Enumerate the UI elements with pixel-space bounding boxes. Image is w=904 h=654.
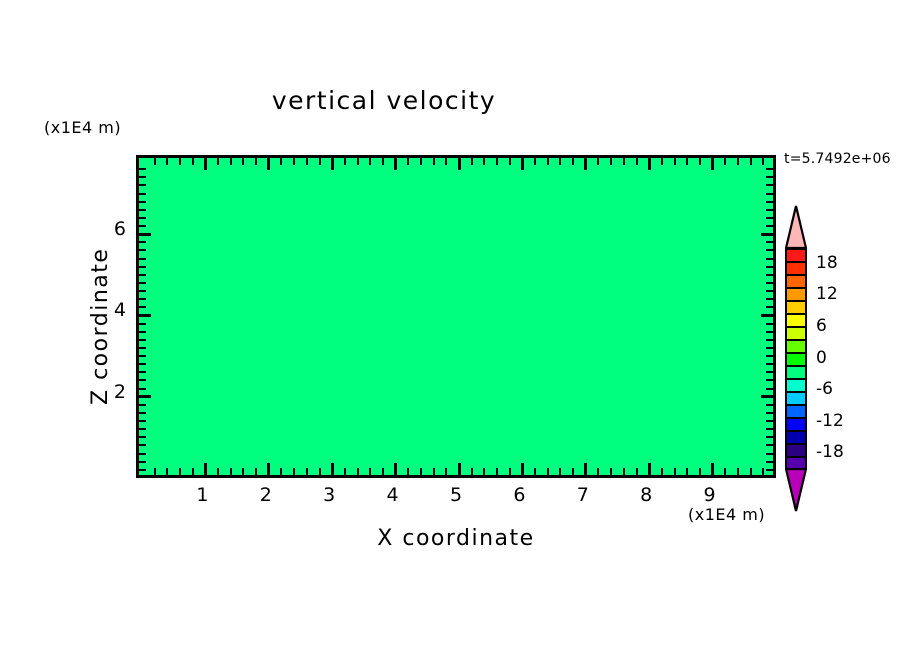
tick-mark <box>230 158 232 165</box>
colorbar-bottom-arrow-icon <box>785 468 807 512</box>
tick-mark <box>139 420 146 422</box>
tick-mark <box>154 468 156 475</box>
tick-mark <box>293 468 295 475</box>
colorbar-label: -6 <box>816 379 833 399</box>
tick-mark <box>139 314 151 317</box>
tick-mark <box>139 444 146 446</box>
colorbar-band <box>787 406 805 419</box>
tick-mark <box>761 233 773 236</box>
tick-mark <box>319 158 321 165</box>
tick-mark <box>139 371 146 373</box>
tick-mark <box>766 363 773 365</box>
tick-mark <box>139 201 146 203</box>
tick-mark <box>445 158 447 165</box>
colorbar-band <box>787 263 805 276</box>
tick-mark <box>534 158 536 165</box>
tick-mark <box>766 249 773 251</box>
tick-mark <box>737 468 739 475</box>
colorbar-label: 6 <box>816 316 827 336</box>
tick-mark <box>139 176 146 178</box>
colorbar-band <box>787 419 805 432</box>
tick-mark <box>139 379 146 381</box>
tick-mark <box>572 158 574 165</box>
tick-mark <box>766 469 773 471</box>
tick-mark <box>139 412 146 414</box>
colorbar-band <box>787 354 805 367</box>
tick-mark <box>699 158 701 165</box>
tick-mark <box>766 266 773 268</box>
tick-mark <box>154 158 156 165</box>
tick-mark <box>636 468 638 475</box>
tick-mark <box>521 463 524 475</box>
tick-mark <box>766 347 773 349</box>
tick-mark <box>547 468 549 475</box>
tick-mark <box>766 339 773 341</box>
x-tick-label: 2 <box>246 484 286 506</box>
colorbar-bands <box>785 248 807 469</box>
colorbar <box>785 205 807 512</box>
colorbar-band <box>787 250 805 263</box>
tick-mark <box>766 176 773 178</box>
tick-mark <box>242 158 244 165</box>
tick-mark <box>766 282 773 284</box>
tick-mark <box>610 158 612 165</box>
tick-mark <box>766 436 773 438</box>
tick-mark <box>192 468 194 475</box>
colorbar-band <box>787 276 805 289</box>
tick-mark <box>255 158 257 165</box>
x-tick-label: 9 <box>690 484 730 506</box>
tick-mark <box>344 158 346 165</box>
colorbar-label: 0 <box>816 348 827 368</box>
tick-mark <box>192 158 194 165</box>
tick-mark <box>357 158 359 165</box>
tick-mark <box>766 379 773 381</box>
tick-mark <box>636 158 638 165</box>
tick-mark <box>369 468 371 475</box>
page-title: vertical velocity <box>0 86 768 115</box>
tick-mark <box>584 463 587 475</box>
tick-mark <box>496 158 498 165</box>
tick-mark <box>699 468 701 475</box>
tick-mark <box>267 158 270 170</box>
tick-mark <box>407 158 409 165</box>
tick-mark <box>139 217 146 219</box>
tick-mark <box>139 274 146 276</box>
tick-mark <box>139 395 151 398</box>
tick-mark <box>267 463 270 475</box>
tick-mark <box>382 468 384 475</box>
tick-mark <box>483 468 485 475</box>
tick-mark <box>623 158 625 165</box>
tick-mark <box>139 193 146 195</box>
y-axis-unit-label: (x1E4 m) <box>44 118 121 137</box>
tick-mark <box>331 463 334 475</box>
colorbar-label: 18 <box>816 253 838 273</box>
tick-mark <box>139 469 146 471</box>
colorbar-label: -18 <box>816 442 844 462</box>
colorbar-band <box>787 380 805 393</box>
tick-mark <box>139 347 146 349</box>
tick-mark <box>280 468 282 475</box>
x-tick-label: 7 <box>563 484 603 506</box>
tick-mark <box>766 420 773 422</box>
colorbar-top-arrow-icon <box>785 205 807 249</box>
tick-mark <box>766 453 773 455</box>
tick-mark <box>623 468 625 475</box>
tick-mark <box>750 468 752 475</box>
tick-mark <box>750 158 752 165</box>
colorbar-band <box>787 328 805 341</box>
tick-mark <box>766 428 773 430</box>
tick-mark <box>394 463 397 475</box>
tick-mark <box>139 241 146 243</box>
colorbar-band <box>787 432 805 445</box>
tick-mark <box>217 158 219 165</box>
tick-mark <box>407 468 409 475</box>
tick-mark <box>766 201 773 203</box>
tick-mark <box>255 468 257 475</box>
tick-mark <box>139 258 146 260</box>
tick-mark <box>761 395 773 398</box>
tick-mark <box>445 468 447 475</box>
colorbar-band <box>787 445 805 458</box>
colorbar-band <box>787 341 805 354</box>
tick-mark <box>382 158 384 165</box>
tick-mark <box>166 158 168 165</box>
tick-mark <box>711 463 714 475</box>
tick-mark <box>139 209 146 211</box>
time-annotation: t=5.7492e+06 <box>784 151 891 167</box>
tick-mark <box>509 468 511 475</box>
tick-mark <box>230 468 232 475</box>
tick-mark <box>394 158 397 170</box>
tick-mark <box>661 468 663 475</box>
tick-mark <box>139 249 146 251</box>
tick-mark <box>139 428 146 430</box>
tick-mark <box>766 371 773 373</box>
tick-mark <box>766 412 773 414</box>
tick-mark <box>139 339 146 341</box>
tick-mark <box>766 388 773 390</box>
tick-mark <box>369 158 371 165</box>
tick-mark <box>471 468 473 475</box>
tick-mark <box>686 158 688 165</box>
tick-mark <box>204 158 207 170</box>
tick-mark <box>674 468 676 475</box>
colorbar-band <box>787 367 805 380</box>
tick-mark <box>179 158 181 165</box>
x-tick-label: 4 <box>373 484 413 506</box>
tick-mark <box>766 355 773 357</box>
colorbar-band <box>787 315 805 328</box>
vertical-velocity-contour-field <box>139 158 773 475</box>
tick-mark <box>139 184 146 186</box>
tick-mark <box>509 158 511 165</box>
tick-mark <box>344 468 346 475</box>
tick-mark <box>648 158 651 170</box>
tick-mark <box>521 158 524 170</box>
tick-mark <box>139 298 146 300</box>
tick-mark <box>433 158 435 165</box>
tick-mark <box>331 158 334 170</box>
x-tick-label: 5 <box>436 484 476 506</box>
tick-mark <box>724 468 726 475</box>
tick-mark <box>559 468 561 475</box>
tick-mark <box>761 314 773 317</box>
tick-mark <box>139 453 146 455</box>
colorbar-label: -12 <box>816 411 844 431</box>
tick-mark <box>433 468 435 475</box>
tick-mark <box>139 225 146 227</box>
tick-mark <box>420 158 422 165</box>
colorbar-label: 12 <box>816 284 838 304</box>
tick-mark <box>139 282 146 284</box>
tick-mark <box>242 468 244 475</box>
tick-mark <box>597 468 599 475</box>
colorbar-band <box>787 289 805 302</box>
tick-mark <box>139 404 146 406</box>
tick-mark <box>139 388 146 390</box>
x-axis-unit-label: (x1E4 m) <box>688 505 765 524</box>
tick-mark <box>559 158 561 165</box>
tick-mark <box>139 331 146 333</box>
colorbar-band <box>787 393 805 406</box>
tick-mark <box>762 158 764 165</box>
tick-mark <box>766 193 773 195</box>
tick-mark <box>306 158 308 165</box>
tick-mark <box>483 158 485 165</box>
tick-mark <box>280 158 282 165</box>
tick-mark <box>766 461 773 463</box>
tick-mark <box>661 158 663 165</box>
x-tick-label: 1 <box>182 484 222 506</box>
tick-mark <box>766 225 773 227</box>
tick-mark <box>724 158 726 165</box>
tick-mark <box>610 468 612 475</box>
tick-mark <box>597 158 599 165</box>
tick-mark <box>766 209 773 211</box>
y-tick-label: 4 <box>96 299 126 321</box>
tick-mark <box>179 468 181 475</box>
contour-plot-area <box>136 155 776 478</box>
tick-mark <box>139 461 146 463</box>
tick-mark <box>139 363 146 365</box>
tick-mark <box>217 468 219 475</box>
tick-mark <box>686 468 688 475</box>
tick-mark <box>306 468 308 475</box>
tick-mark <box>648 463 651 475</box>
tick-mark <box>534 468 536 475</box>
tick-mark <box>762 468 764 475</box>
tick-mark <box>711 158 714 170</box>
tick-mark <box>139 436 146 438</box>
tick-mark <box>496 468 498 475</box>
y-tick-label: 6 <box>96 218 126 240</box>
tick-mark <box>766 444 773 446</box>
tick-mark <box>420 468 422 475</box>
tick-mark <box>139 168 146 170</box>
tick-mark <box>139 290 146 292</box>
tick-mark <box>139 233 151 236</box>
tick-mark <box>766 290 773 292</box>
tick-mark <box>766 241 773 243</box>
tick-mark <box>166 468 168 475</box>
tick-mark <box>139 306 146 308</box>
tick-mark <box>471 158 473 165</box>
tick-mark <box>458 463 461 475</box>
tick-mark <box>737 158 739 165</box>
tick-mark <box>766 306 773 308</box>
y-tick-label: 2 <box>96 381 126 403</box>
tick-mark <box>357 468 359 475</box>
tick-mark <box>766 168 773 170</box>
tick-mark <box>204 463 207 475</box>
tick-mark <box>766 323 773 325</box>
tick-mark <box>458 158 461 170</box>
tick-mark <box>766 274 773 276</box>
tick-mark <box>766 258 773 260</box>
colorbar-band <box>787 302 805 315</box>
tick-mark <box>766 404 773 406</box>
tick-mark <box>139 355 146 357</box>
tick-mark <box>319 468 321 475</box>
tick-mark <box>584 158 587 170</box>
x-tick-label: 6 <box>499 484 539 506</box>
tick-mark <box>766 298 773 300</box>
tick-mark <box>139 266 146 268</box>
tick-mark <box>766 331 773 333</box>
x-axis-title: X coordinate <box>136 526 776 551</box>
x-tick-label: 8 <box>626 484 666 506</box>
x-tick-label: 3 <box>309 484 349 506</box>
tick-mark <box>293 158 295 165</box>
tick-mark <box>547 158 549 165</box>
tick-mark <box>766 217 773 219</box>
tick-mark <box>766 184 773 186</box>
tick-mark <box>674 158 676 165</box>
tick-mark <box>572 468 574 475</box>
tick-mark <box>139 323 146 325</box>
